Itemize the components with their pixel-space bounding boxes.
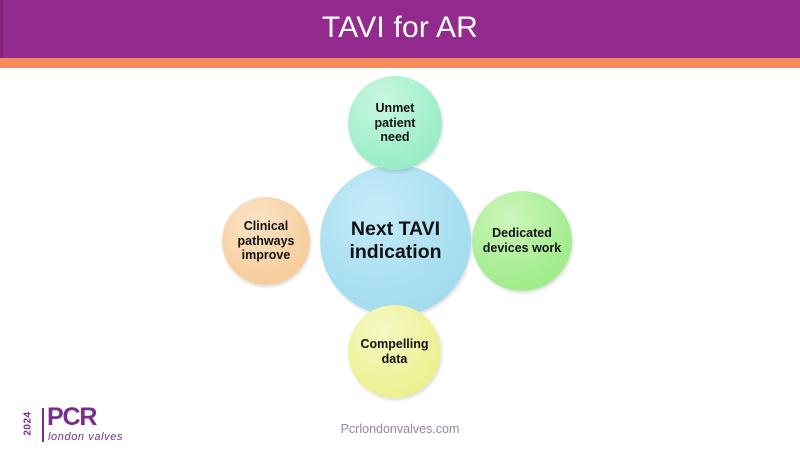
diagram-node-left-label: Clinical pathways improve <box>234 219 299 263</box>
pcr-london-valves-logo: 2024 PCR london valves <box>16 404 136 444</box>
logo-divider <box>42 408 44 442</box>
logo-wordmark: PCR <box>47 404 96 430</box>
diagram-node-center[interactable]: Next TAVI indication <box>320 165 471 316</box>
logo-subtitle: london valves <box>48 431 123 443</box>
diagram-node-top-label: Unmet patient need <box>371 101 420 145</box>
logo-year-label: 2024 <box>23 404 34 444</box>
diagram-node-bottom-label: Compelling data <box>356 337 432 367</box>
diagram-node-top[interactable]: Unmet patient need <box>348 76 442 170</box>
diagram-node-center-label: Next TAVI indication <box>345 218 445 264</box>
diagram-node-bottom[interactable]: Compelling data <box>348 305 441 398</box>
diagram-node-right[interactable]: Dedicated devices work <box>472 191 572 291</box>
diagram-node-right-label: Dedicated devices work <box>479 226 566 256</box>
page-title: TAVI for AR <box>0 0 800 58</box>
diagram-node-left[interactable]: Clinical pathways improve <box>222 197 310 285</box>
hub-and-spoke-diagram: Next TAVI indication Unmet patient need … <box>0 68 800 408</box>
accent-stripe <box>0 58 800 68</box>
